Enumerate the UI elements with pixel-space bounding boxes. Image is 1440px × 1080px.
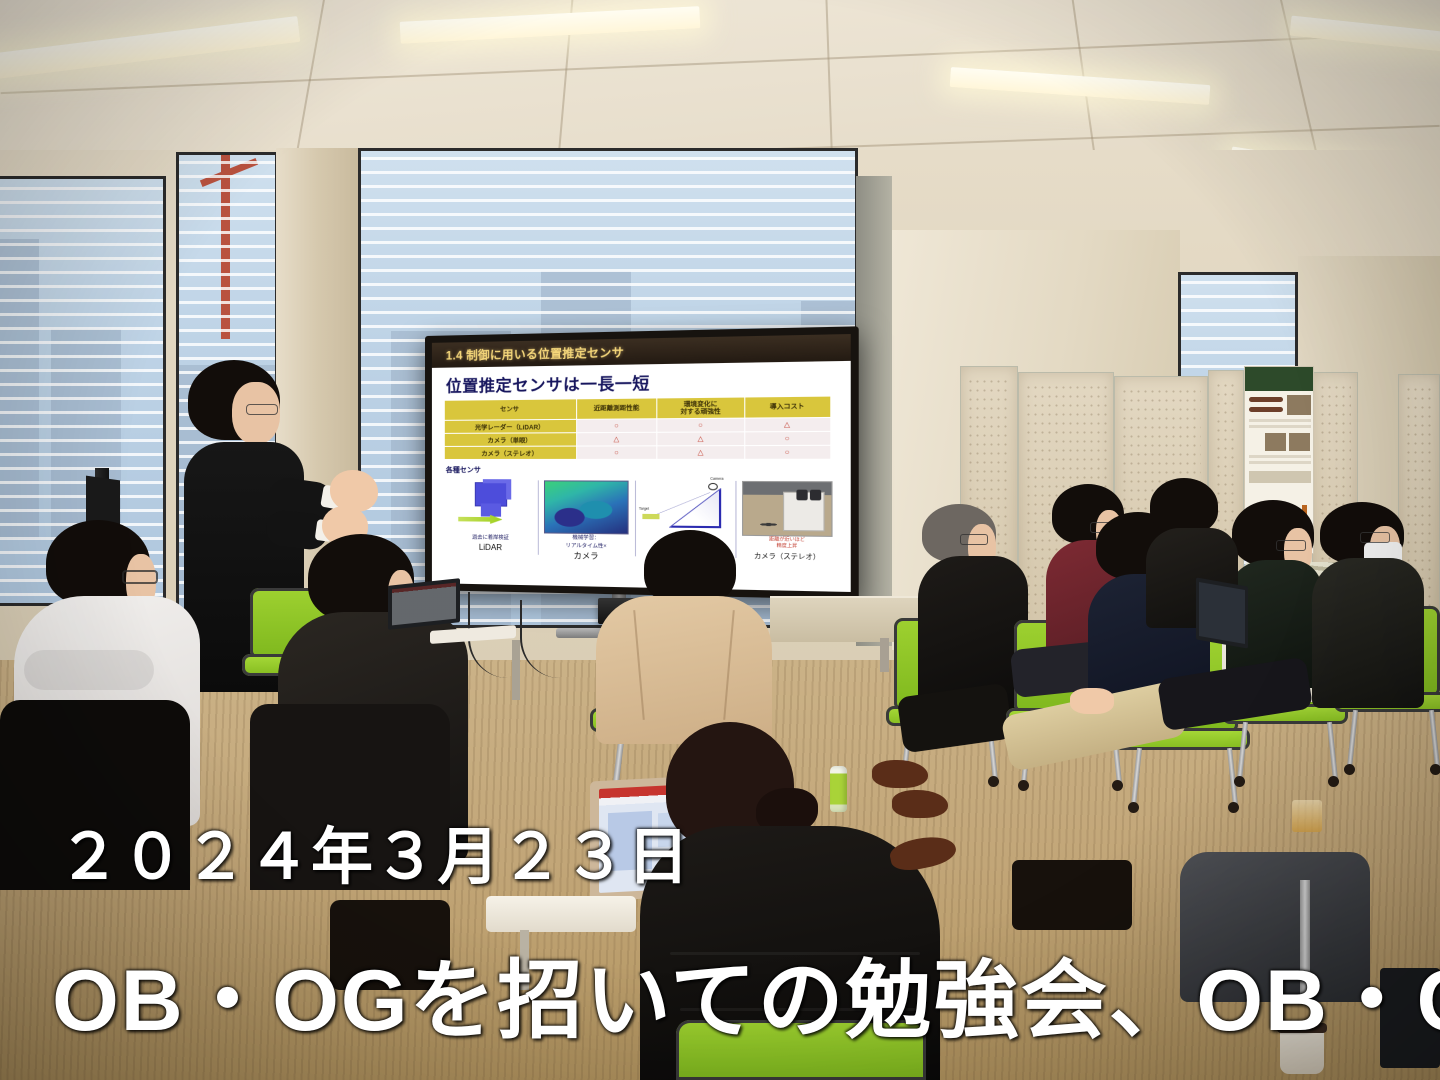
th-close-range: 近距離測距性能 [576,398,657,420]
attendee-glasses-icon [960,534,988,545]
sensor-comparison-table: センサ 近距離測距性能 環境変化に 対する頑強性 導入コスト 光学レーダー（Li… [444,396,831,461]
th-sensor: センサ [444,399,576,421]
th-robustness-line2: 対する頑強性 [659,408,743,416]
cell-mono-c1: △ [576,433,657,447]
attendee-glasses-icon [122,570,158,584]
table-row: カメラ（ステレオ） ○ △ ○ [444,446,830,460]
presenter-hand-right [330,470,378,512]
camera-label: Camera [710,477,723,481]
triangulation-diagram: Camera Target [637,482,733,535]
attendee-dark-jacket [1312,558,1424,708]
presenter-glasses-icon [246,404,278,415]
row-label-lidar: 光学レーダー（LiDAR） [444,420,576,434]
cell-lidar-c2: ○ [657,418,744,432]
attendee-hair [1150,478,1218,534]
target-label: Target [639,507,649,511]
row-label-mono-camera: カメラ（単眼） [444,433,576,447]
stereo-camera-photo [742,481,833,537]
lidar-illustration [446,477,536,534]
side-table-white [486,896,636,932]
table-header-row: センサ 近距離測距性能 環境変化に 対する頑強性 導入コスト [444,396,830,421]
cell-lidar-c3: △ [744,418,830,432]
cable [520,600,592,678]
cell-mono-c2: △ [657,432,744,446]
glass-cup [1292,800,1322,832]
table-leg [512,640,520,700]
cell-lidar-c1: ○ [576,419,657,433]
caption-title: OB・OGを招いての勉強会、OB・OG会 [52,930,1440,1055]
cell-stereo-c2: △ [657,446,744,460]
th-robustness: 環境変化に 対する頑強性 [657,397,744,419]
slide-heading: 位置推定センサは一長一短 [446,366,840,396]
attendee-shoulder-shadow [24,650,154,690]
cell-stereo-c1: ○ [576,446,657,460]
drink-bottle [830,766,847,812]
attendee-glasses-icon [1360,532,1390,543]
cell-stereo-c3: ○ [744,446,830,460]
wall-pillar-center [856,176,892,646]
cell-mono-c3: ○ [744,432,830,446]
bag [1012,860,1132,930]
caption-date: ２０２４年３月２３日 [58,806,690,896]
th-cost: 導入コスト [744,396,830,418]
attendee-hands [1070,688,1114,714]
poster-title-band [1245,367,1313,391]
photo-scene: 1.4 制御に用いる位置推定センサ 位置推定センサは一長一短 センサ 近距離測距… [0,0,1440,1080]
sensors-section-label: 各種センサ [446,465,840,476]
target-marker-icon [643,514,660,519]
shoe [872,760,928,788]
depth-map-image [544,481,629,535]
row-label-stereo-camera: カメラ（ステレオ） [444,446,576,459]
attendee-glasses-icon [1276,540,1306,551]
table-row: カメラ（単眼） △ △ ○ [444,432,830,447]
shoe [892,790,948,818]
attendee-hair [644,530,736,606]
attendee-right-masked [1312,502,1440,742]
